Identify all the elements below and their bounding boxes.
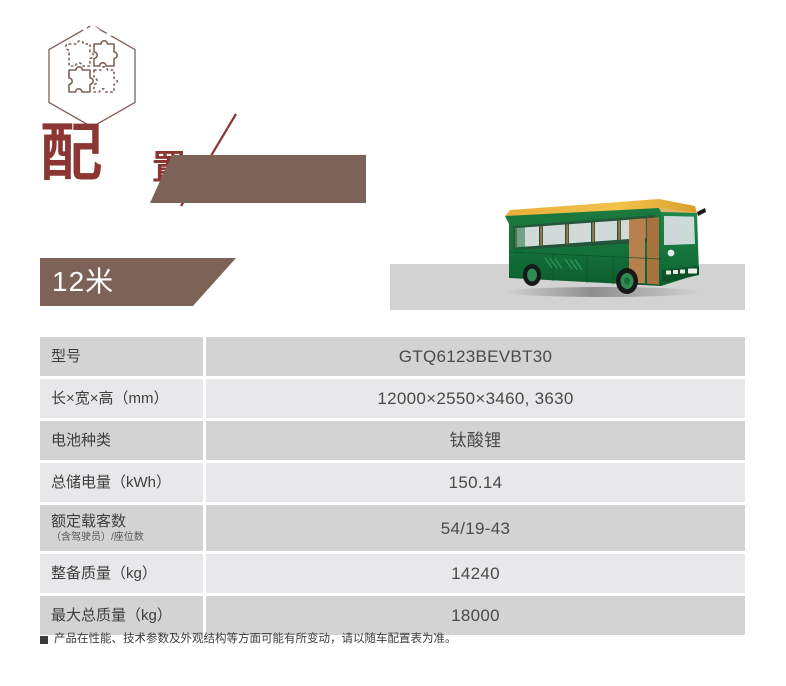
- page-title-main: 配: [40, 122, 101, 184]
- spec-label-text: 整备质量（kg）: [51, 564, 203, 583]
- spec-label-cell: 电池种类: [40, 421, 203, 460]
- spec-value-text: 钛酸锂: [450, 430, 502, 451]
- table-row: 最大总质量（kg） 18000: [40, 596, 745, 635]
- table-row: 长×宽×高（mm） 12000×2550×3460, 3630: [40, 379, 745, 418]
- tech-params-banner: [150, 155, 366, 203]
- spec-value-text: 54/19-43: [441, 518, 511, 539]
- spec-value-cell: 14240: [206, 554, 745, 593]
- spec-label-cell: 整备质量（kg）: [40, 554, 203, 593]
- spec-label-text: 电池种类: [51, 431, 203, 450]
- tech-params-banner-label: 技术参数: [38, 6, 166, 42]
- bus-photo: [483, 182, 715, 304]
- footer-note-text: 产品在性能、技术参数及外观结构等方面可能有所变动，请以随车配置表为准。: [54, 632, 457, 647]
- spec-label-cell: 长×宽×高（mm）: [40, 379, 203, 418]
- table-row: 整备质量（kg） 14240: [40, 554, 745, 593]
- spec-label-text: 长×宽×高（mm）: [51, 389, 203, 408]
- spec-table: 型号 GTQ6123BEVBT30 长×宽×高（mm） 12000×2550×3…: [40, 337, 745, 638]
- spec-label-text: 总储电量（kWh）: [51, 473, 203, 492]
- spec-value-text: 18000: [451, 605, 500, 626]
- spec-value-cell: 12000×2550×3460, 3630: [206, 379, 745, 418]
- spec-value-text: 150.14: [449, 472, 503, 493]
- spec-value-text: 14240: [451, 563, 500, 584]
- spec-label-cell: 最大总质量（kg）: [40, 596, 203, 635]
- spec-value-cell: 54/19-43: [206, 505, 745, 551]
- spec-label-text: 最大总质量（kg）: [51, 606, 203, 625]
- table-row: 总储电量（kWh） 150.14: [40, 463, 745, 502]
- footer-note: 产品在性能、技术参数及外观结构等方面可能有所变动，请以随车配置表为准。: [40, 632, 457, 647]
- spec-label-cell: 额定载客数 （含驾驶员）/座位数: [40, 505, 203, 551]
- spec-value-cell: 钛酸锂: [206, 421, 745, 460]
- table-row: 型号 GTQ6123BEVBT30: [40, 337, 745, 376]
- spec-label-text: 型号: [51, 347, 203, 366]
- spec-value-cell: GTQ6123BEVBT30: [206, 337, 745, 376]
- spec-label-cell: 总储电量（kWh）: [40, 463, 203, 502]
- spec-label-sublabel: （含驾驶员）/座位数: [51, 531, 203, 544]
- footer-bullet-icon: [40, 636, 48, 644]
- spec-label-cell: 型号: [40, 337, 203, 376]
- spec-value-cell: 18000: [206, 596, 745, 635]
- table-row: 电池种类 钛酸锂: [40, 421, 745, 460]
- spec-label-text: 额定载客数: [51, 512, 203, 531]
- spec-value-text: 12000×2550×3460, 3630: [377, 388, 573, 409]
- spec-value-text: GTQ6123BEVBT30: [399, 346, 553, 367]
- table-row: 额定载客数 （含驾驶员）/座位数 54/19-43: [40, 505, 745, 551]
- green-city-bus-icon: [483, 182, 715, 304]
- size-banner-label: 12米: [52, 266, 114, 298]
- spec-value-cell: 150.14: [206, 463, 745, 502]
